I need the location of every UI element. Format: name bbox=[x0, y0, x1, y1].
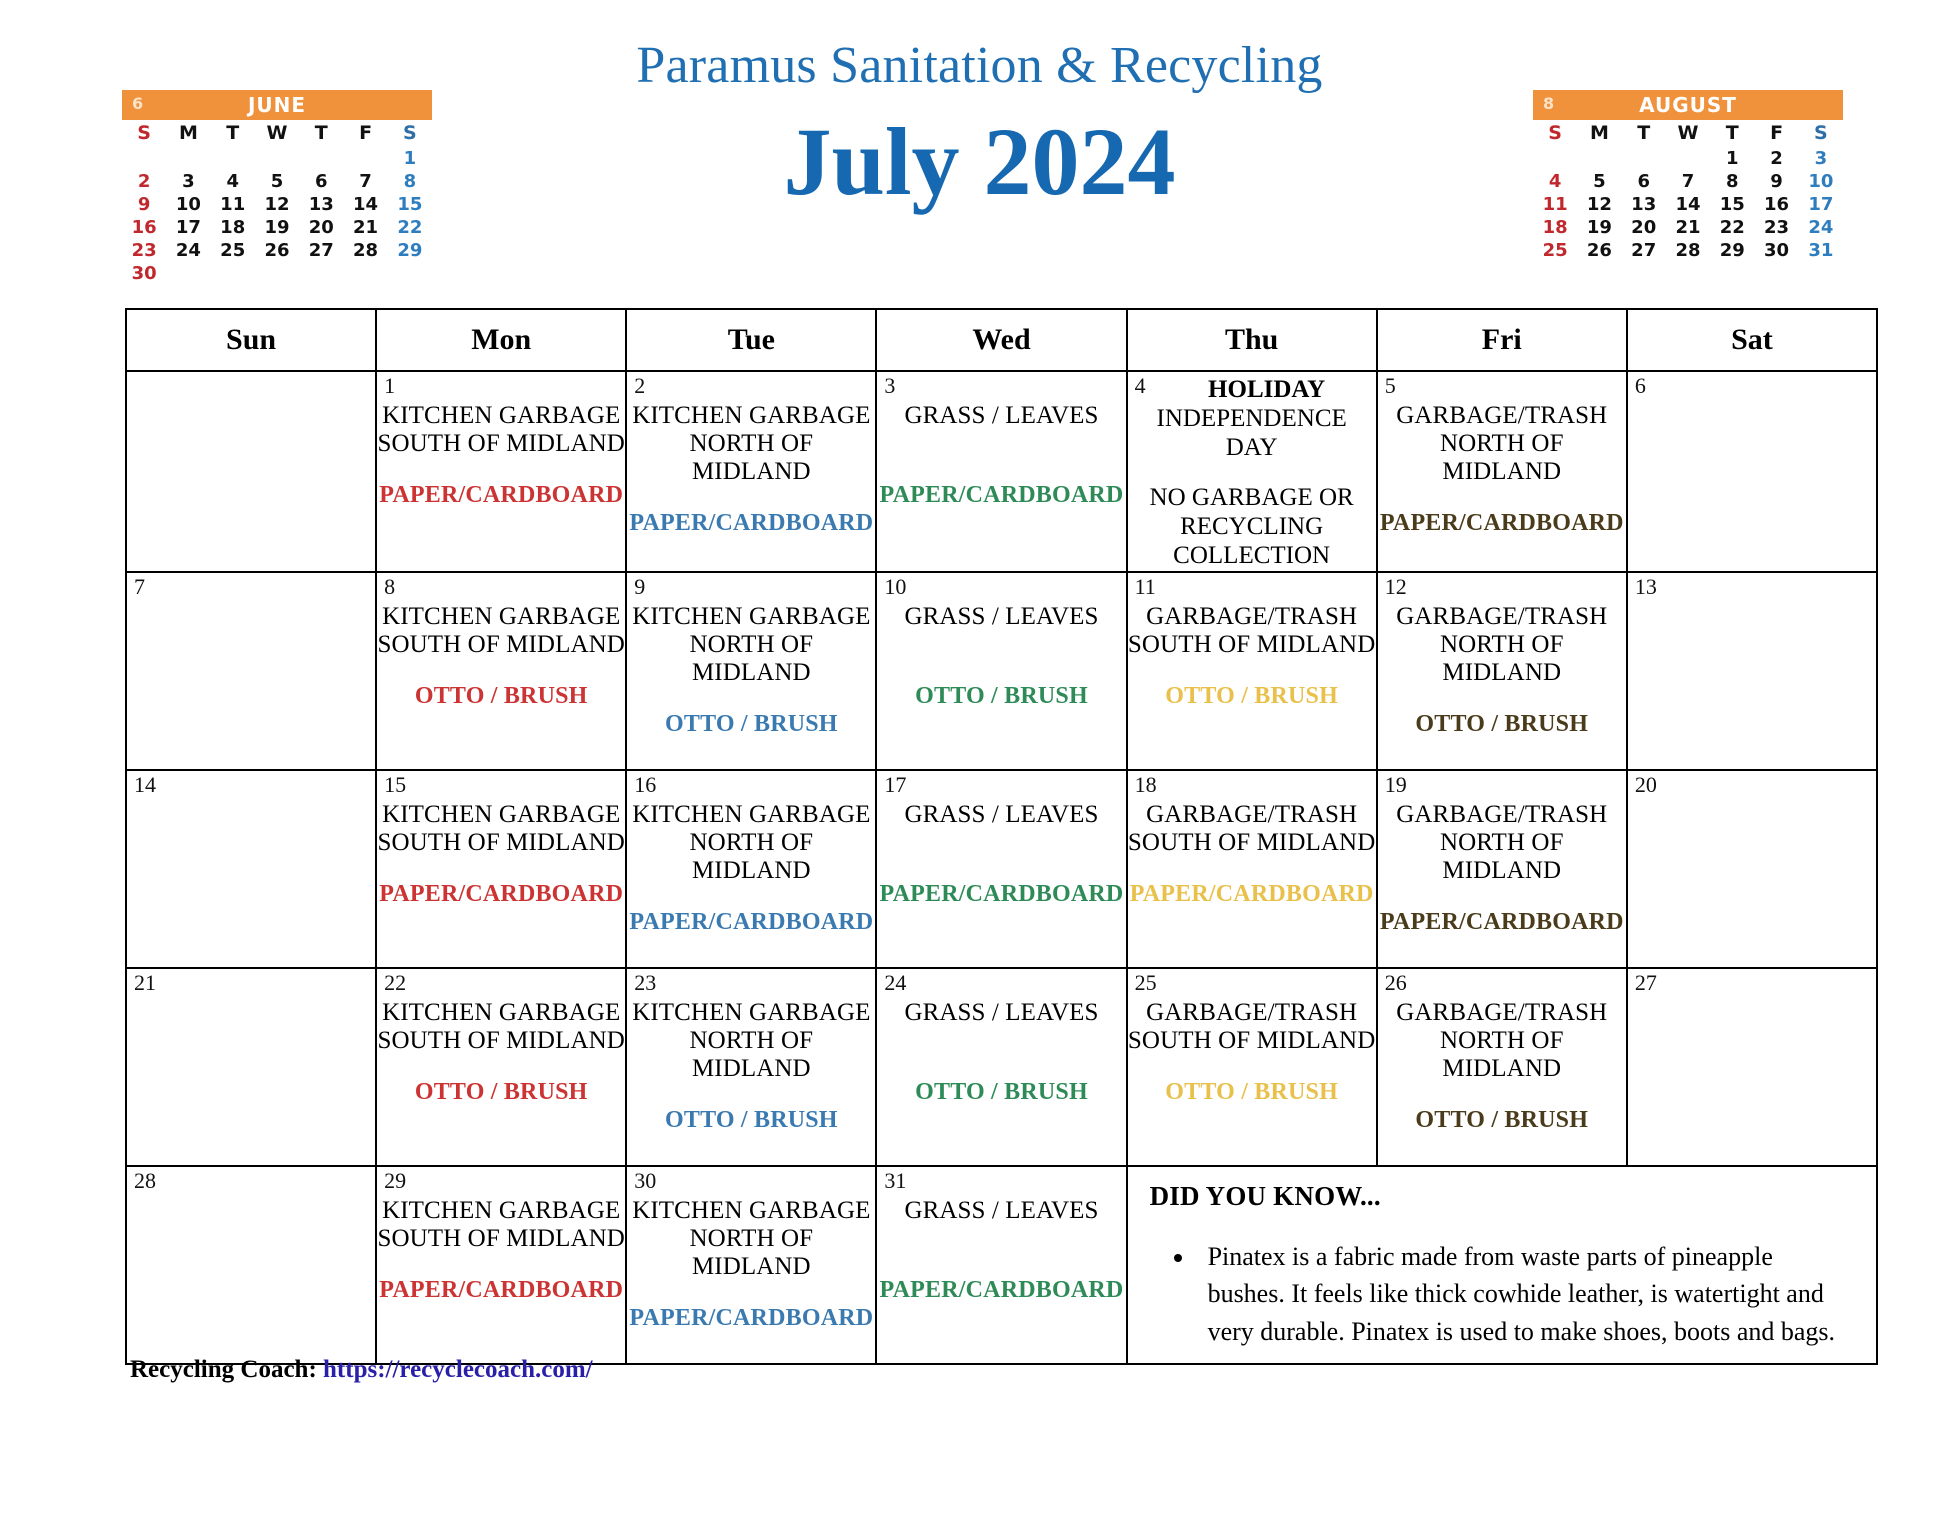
service-line: GARBAGE/TRASH bbox=[1378, 999, 1626, 1027]
mini-calendar-day: 29 bbox=[1710, 239, 1754, 262]
mini-calendar-day: 3 bbox=[1799, 147, 1843, 170]
day-content: KITCHEN GARBAGENORTH OF MIDLANDPAPER/CAR… bbox=[627, 372, 875, 538]
recycling-label: OTTO / BRUSH bbox=[877, 1079, 1125, 1107]
day-number: 10 bbox=[884, 575, 906, 599]
mini-calendar-dow: S bbox=[1799, 120, 1843, 147]
service-line: KITCHEN GARBAGE bbox=[377, 603, 625, 631]
service-line: NORTH OF MIDLAND bbox=[627, 430, 875, 486]
service-line: SOUTH OF MIDLAND bbox=[377, 430, 625, 458]
recycling-label: PAPER/CARDBOARD bbox=[627, 510, 875, 538]
recycling-label: PAPER/CARDBOARD bbox=[627, 909, 875, 937]
mini-calendar-day: 4 bbox=[211, 170, 255, 193]
day-number: 14 bbox=[134, 773, 156, 797]
mini-calendar-day bbox=[122, 147, 166, 170]
calendar-day-cell-13[interactable]: 13 bbox=[1627, 572, 1877, 770]
mini-calendar-month-name: JUNE bbox=[122, 93, 432, 117]
holiday-notice-line: NO GARBAGE OR bbox=[1128, 484, 1376, 513]
mini-calendar-day: 23 bbox=[122, 239, 166, 262]
calendar-day-cell-27[interactable]: 27 bbox=[1627, 968, 1877, 1166]
recycling-label: PAPER/CARDBOARD bbox=[377, 1277, 625, 1305]
service-line: KITCHEN GARBAGE bbox=[377, 999, 625, 1027]
calendar-day-cell-17[interactable]: 17GRASS / LEAVESPAPER/CARDBOARD bbox=[876, 770, 1126, 968]
mini-calendar-day: 4 bbox=[1533, 170, 1577, 193]
mini-calendar-day: 10 bbox=[166, 193, 210, 216]
mini-calendar-day: 18 bbox=[1533, 216, 1577, 239]
mini-calendar-day bbox=[166, 262, 210, 285]
day-number: 1 bbox=[384, 374, 395, 398]
day-number: 21 bbox=[134, 971, 156, 995]
calendar-body: 1KITCHEN GARBAGESOUTH OF MIDLANDPAPER/CA… bbox=[126, 371, 1877, 1364]
service-line: KITCHEN GARBAGE bbox=[627, 1197, 875, 1225]
mini-calendar-dow: T bbox=[299, 120, 343, 147]
day-number: 20 bbox=[1635, 773, 1657, 797]
mini-calendar-day bbox=[1666, 147, 1710, 170]
day-number: 30 bbox=[634, 1169, 656, 1193]
recycling-label: OTTO / BRUSH bbox=[627, 711, 875, 739]
day-number: 7 bbox=[134, 575, 145, 599]
recycling-label: PAPER/CARDBOARD bbox=[377, 482, 625, 510]
mini-calendar-grid: SMTWTFS 12345678910111213141516171819202… bbox=[122, 120, 432, 285]
recycling-label: PAPER/CARDBOARD bbox=[1128, 881, 1376, 909]
service-line: GARBAGE/TRASH bbox=[1128, 999, 1376, 1027]
mini-calendar-header: 8 AUGUST bbox=[1533, 90, 1843, 120]
mini-calendar-day: 26 bbox=[255, 239, 299, 262]
calendar-day-cell-15[interactable]: 15KITCHEN GARBAGESOUTH OF MIDLANDPAPER/C… bbox=[376, 770, 626, 968]
day-content: KITCHEN GARBAGENORTH OF MIDLANDOTTO / BR… bbox=[627, 573, 875, 739]
calendar-day-cell-3[interactable]: 3GRASS / LEAVESPAPER/CARDBOARD bbox=[876, 371, 1126, 572]
day-number: 15 bbox=[384, 773, 406, 797]
calendar-day-cell-21[interactable]: 21 bbox=[126, 968, 376, 1166]
calendar-day-cell-22[interactable]: 22KITCHEN GARBAGESOUTH OF MIDLANDOTTO / … bbox=[376, 968, 626, 1166]
service-line: GARBAGE/TRASH bbox=[1378, 801, 1626, 829]
page-header: Paramus Sanitation & Recycling July 2024… bbox=[0, 0, 1959, 250]
mini-calendar-day: 18 bbox=[211, 216, 255, 239]
day-content: KITCHEN GARBAGESOUTH OF MIDLANDOTTO / BR… bbox=[377, 969, 625, 1107]
footer: Recycling Coach: https://recyclecoach.co… bbox=[130, 1356, 593, 1384]
service-line: GRASS / LEAVES bbox=[877, 999, 1125, 1027]
day-content: GARBAGE/TRASHSOUTH OF MIDLANDPAPER/CARDB… bbox=[1128, 771, 1376, 909]
footer-label: Recycling Coach: bbox=[130, 1356, 317, 1383]
calendar-day-cell-11[interactable]: 11GARBAGE/TRASHSOUTH OF MIDLANDOTTO / BR… bbox=[1127, 572, 1377, 770]
calendar-week-row: 78KITCHEN GARBAGESOUTH OF MIDLANDOTTO / … bbox=[126, 572, 1877, 770]
mini-calendar-day: 21 bbox=[343, 216, 387, 239]
service-line: NORTH OF MIDLAND bbox=[1378, 829, 1626, 885]
day-number: 13 bbox=[1635, 575, 1657, 599]
org-title: Paramus Sanitation & Recycling bbox=[0, 36, 1959, 95]
mini-calendar-day: 19 bbox=[255, 216, 299, 239]
day-content: KITCHEN GARBAGENORTH OF MIDLANDPAPER/CAR… bbox=[627, 771, 875, 937]
service-line: SOUTH OF MIDLAND bbox=[1128, 829, 1376, 857]
calendar-day-cell-24[interactable]: 24GRASS / LEAVESOTTO / BRUSH bbox=[876, 968, 1126, 1166]
calendar-day-cell-2[interactable]: 2KITCHEN GARBAGENORTH OF MIDLANDPAPER/CA… bbox=[626, 371, 876, 572]
day-content: GARBAGE/TRASHNORTH OF MIDLANDPAPER/CARDB… bbox=[1378, 372, 1626, 538]
mini-calendar-dow: F bbox=[1754, 120, 1798, 147]
service-line: GARBAGE/TRASH bbox=[1128, 801, 1376, 829]
day-number: 17 bbox=[884, 773, 906, 797]
day-number: 4 bbox=[1135, 374, 1146, 398]
day-number: 3 bbox=[884, 374, 895, 398]
service-line: GRASS / LEAVES bbox=[877, 801, 1125, 829]
mini-calendar-day: 22 bbox=[388, 216, 432, 239]
service-line: SOUTH OF MIDLAND bbox=[377, 1027, 625, 1055]
mini-calendar-day: 21 bbox=[1666, 216, 1710, 239]
mini-calendar-previous-month: 6 JUNE SMTWTFS 1234567891011121314151617… bbox=[122, 90, 432, 285]
mini-calendar-dow: T bbox=[1710, 120, 1754, 147]
day-content: KITCHEN GARBAGESOUTH OF MIDLANDPAPER/CAR… bbox=[377, 372, 625, 510]
day-number: 2 bbox=[634, 374, 645, 398]
mini-calendar-day: 7 bbox=[343, 170, 387, 193]
calendar-day-cell-19[interactable]: 19GARBAGE/TRASHNORTH OF MIDLANDPAPER/CAR… bbox=[1377, 770, 1627, 968]
mini-calendar-day: 20 bbox=[299, 216, 343, 239]
recycling-label: OTTO / BRUSH bbox=[627, 1107, 875, 1135]
mini-calendar-dow: T bbox=[1622, 120, 1666, 147]
service-line: SOUTH OF MIDLAND bbox=[377, 631, 625, 659]
mini-calendar-dow: M bbox=[166, 120, 210, 147]
calendar-day-cell-9[interactable]: 9KITCHEN GARBAGENORTH OF MIDLANDOTTO / B… bbox=[626, 572, 876, 770]
day-content: GRASS / LEAVESPAPER/CARDBOARD bbox=[877, 771, 1125, 909]
recycling-label: PAPER/CARDBOARD bbox=[1378, 909, 1626, 937]
service-line: GARBAGE/TRASH bbox=[1378, 603, 1626, 631]
mini-calendar-day: 16 bbox=[1754, 193, 1798, 216]
day-content: KITCHEN GARBAGESOUTH OF MIDLANDOTTO / BR… bbox=[377, 573, 625, 711]
service-line: NORTH OF MIDLAND bbox=[627, 1027, 875, 1083]
mini-calendar-day bbox=[1577, 147, 1621, 170]
mini-calendar-day bbox=[255, 262, 299, 285]
calendar-day-header-sat: Sat bbox=[1627, 309, 1877, 371]
service-line: KITCHEN GARBAGE bbox=[377, 402, 625, 430]
mini-calendar-next-month: 8 AUGUST SMTWTFS 12345678910111213141516… bbox=[1533, 90, 1843, 262]
day-number: 27 bbox=[1635, 971, 1657, 995]
spacer bbox=[1128, 462, 1376, 484]
day-number: 28 bbox=[134, 1169, 156, 1193]
day-number: 29 bbox=[384, 1169, 406, 1193]
recycling-label: OTTO / BRUSH bbox=[1128, 683, 1376, 711]
service-line: KITCHEN GARBAGE bbox=[627, 999, 875, 1027]
day-number: 19 bbox=[1385, 773, 1407, 797]
mini-calendar-day: 22 bbox=[1710, 216, 1754, 239]
service-line: SOUTH OF MIDLAND bbox=[377, 1225, 625, 1253]
mini-calendar-day bbox=[166, 147, 210, 170]
mini-calendar-dow: S bbox=[388, 120, 432, 147]
mini-calendar-day: 24 bbox=[166, 239, 210, 262]
calendar-day-header-sun: Sun bbox=[126, 309, 376, 371]
mini-calendar-day: 9 bbox=[122, 193, 166, 216]
service-line: SOUTH OF MIDLAND bbox=[377, 829, 625, 857]
day-content: GRASS / LEAVESPAPER/CARDBOARD bbox=[877, 1167, 1125, 1305]
mini-calendar-day bbox=[343, 262, 387, 285]
service-line: KITCHEN GARBAGE bbox=[627, 603, 875, 631]
day-content: GARBAGE/TRASHSOUTH OF MIDLANDOTTO / BRUS… bbox=[1128, 573, 1376, 711]
calendar-day-header-wed: Wed bbox=[876, 309, 1126, 371]
mini-calendar-day bbox=[343, 147, 387, 170]
recycling-label: PAPER/CARDBOARD bbox=[377, 881, 625, 909]
mini-calendar-day: 26 bbox=[1577, 239, 1621, 262]
mini-calendar-day: 29 bbox=[388, 239, 432, 262]
day-number: 18 bbox=[1135, 773, 1157, 797]
day-number: 8 bbox=[384, 575, 395, 599]
service-line: GRASS / LEAVES bbox=[877, 402, 1125, 430]
calendar-week-row: 2122KITCHEN GARBAGESOUTH OF MIDLANDOTTO … bbox=[126, 968, 1877, 1166]
mini-calendar-day: 1 bbox=[1710, 147, 1754, 170]
recycling-label: PAPER/CARDBOARD bbox=[877, 881, 1125, 909]
calendar-day-cell-1[interactable]: 1KITCHEN GARBAGESOUTH OF MIDLANDPAPER/CA… bbox=[376, 371, 626, 572]
mini-calendar-day: 13 bbox=[299, 193, 343, 216]
service-line: KITCHEN GARBAGE bbox=[627, 402, 875, 430]
day-number: 16 bbox=[634, 773, 656, 797]
mini-calendar-day: 5 bbox=[1577, 170, 1621, 193]
day-number: 9 bbox=[634, 575, 645, 599]
day-number: 26 bbox=[1385, 971, 1407, 995]
mini-calendar-day bbox=[1622, 147, 1666, 170]
day-content: KITCHEN GARBAGENORTH OF MIDLANDPAPER/CAR… bbox=[627, 1167, 875, 1333]
day-content: KITCHEN GARBAGESOUTH OF MIDLANDPAPER/CAR… bbox=[377, 771, 625, 909]
did-you-know-title: DID YOU KNOW... bbox=[1150, 1181, 1854, 1212]
service-line: NORTH OF MIDLAND bbox=[627, 829, 875, 885]
day-content: GARBAGE/TRASHNORTH OF MIDLANDPAPER/CARDB… bbox=[1378, 771, 1626, 937]
mini-calendar-day: 15 bbox=[388, 193, 432, 216]
day-number: 23 bbox=[634, 971, 656, 995]
recycling-label: OTTO / BRUSH bbox=[377, 1079, 625, 1107]
mini-calendar-day: 12 bbox=[1577, 193, 1621, 216]
calendar-day-cell-20[interactable]: 20 bbox=[1627, 770, 1877, 968]
mini-calendar-day: 1 bbox=[388, 147, 432, 170]
calendar-day-cell-6[interactable]: 6 bbox=[1627, 371, 1877, 572]
day-number: 6 bbox=[1635, 374, 1646, 398]
service-line: NORTH OF MIDLAND bbox=[1378, 631, 1626, 687]
calendar-week-row: 1415KITCHEN GARBAGESOUTH OF MIDLANDPAPER… bbox=[126, 770, 1877, 968]
mini-calendar-day bbox=[255, 147, 299, 170]
service-line: NORTH OF MIDLAND bbox=[627, 631, 875, 687]
day-content: GARBAGE/TRASHSOUTH OF MIDLANDOTTO / BRUS… bbox=[1128, 969, 1376, 1107]
calendar-header-row: SunMonTueWedThuFriSat bbox=[126, 309, 1877, 371]
mini-calendar-day bbox=[211, 147, 255, 170]
calendar-day-cell-30[interactable]: 30KITCHEN GARBAGENORTH OF MIDLANDPAPER/C… bbox=[626, 1166, 876, 1364]
day-number: 11 bbox=[1135, 575, 1156, 599]
calendar-day-cell-18[interactable]: 18GARBAGE/TRASHSOUTH OF MIDLANDPAPER/CAR… bbox=[1127, 770, 1377, 968]
calendar-day-header-thu: Thu bbox=[1127, 309, 1377, 371]
holiday-name: INDEPENDENCE DAY bbox=[1128, 405, 1376, 463]
mini-calendar-day bbox=[299, 147, 343, 170]
day-content: KITCHEN GARBAGESOUTH OF MIDLANDPAPER/CAR… bbox=[377, 1167, 625, 1305]
mini-calendar-day: 15 bbox=[1710, 193, 1754, 216]
mini-calendar-header: 6 JUNE bbox=[122, 90, 432, 120]
calendar-day-cell-25[interactable]: 25GARBAGE/TRASHSOUTH OF MIDLANDOTTO / BR… bbox=[1127, 968, 1377, 1166]
mini-calendar-day: 11 bbox=[1533, 193, 1577, 216]
mini-calendar-day: 19 bbox=[1577, 216, 1621, 239]
calendar-container: SunMonTueWedThuFriSat 1KITCHEN GARBAGESO… bbox=[125, 308, 1878, 1365]
calendar-day-header-mon: Mon bbox=[376, 309, 626, 371]
mini-calendar-day bbox=[299, 262, 343, 285]
calendar-day-cell-26[interactable]: 26GARBAGE/TRASHNORTH OF MIDLANDOTTO / BR… bbox=[1377, 968, 1627, 1166]
mini-calendar-dow: M bbox=[1577, 120, 1621, 147]
recycling-label: OTTO / BRUSH bbox=[1378, 711, 1626, 739]
day-content: GRASS / LEAVESOTTO / BRUSH bbox=[877, 969, 1125, 1107]
calendar-week-row: 2829KITCHEN GARBAGESOUTH OF MIDLANDPAPER… bbox=[126, 1166, 1877, 1364]
day-number: 5 bbox=[1385, 374, 1396, 398]
mini-calendar-day: 8 bbox=[1710, 170, 1754, 193]
did-you-know-cell[interactable]: DID YOU KNOW...Pinatex is a fabric made … bbox=[1127, 1166, 1877, 1364]
holiday-notice-line: RECYCLING bbox=[1128, 513, 1376, 542]
mini-calendar-day: 6 bbox=[299, 170, 343, 193]
mini-calendar-dow: F bbox=[343, 120, 387, 147]
mini-calendar-day: 17 bbox=[166, 216, 210, 239]
mini-calendar-day: 24 bbox=[1799, 216, 1843, 239]
recycling-label: OTTO / BRUSH bbox=[877, 683, 1125, 711]
holiday-title: HOLIDAY bbox=[1128, 376, 1376, 405]
recycling-label: PAPER/CARDBOARD bbox=[627, 1305, 875, 1333]
mini-calendar-day: 12 bbox=[255, 193, 299, 216]
calendar-week-row: 1KITCHEN GARBAGESOUTH OF MIDLANDPAPER/CA… bbox=[126, 371, 1877, 572]
day-number: 25 bbox=[1135, 971, 1157, 995]
day-number: 22 bbox=[384, 971, 406, 995]
mini-calendar-day: 23 bbox=[1754, 216, 1798, 239]
mini-calendar-day: 17 bbox=[1799, 193, 1843, 216]
did-you-know-list: Pinatex is a fabric made from waste part… bbox=[1150, 1238, 1854, 1351]
day-content: GRASS / LEAVESPAPER/CARDBOARD bbox=[877, 372, 1125, 510]
calendar-day-cell-12[interactable]: 12GARBAGE/TRASHNORTH OF MIDLANDOTTO / BR… bbox=[1377, 572, 1627, 770]
mini-calendar-day: 28 bbox=[1666, 239, 1710, 262]
calendar-day-cell-31[interactable]: 31GRASS / LEAVESPAPER/CARDBOARD bbox=[876, 1166, 1126, 1364]
recycling-label: OTTO / BRUSH bbox=[1128, 1079, 1376, 1107]
calendar-day-cell-10[interactable]: 10GRASS / LEAVESOTTO / BRUSH bbox=[876, 572, 1126, 770]
mini-calendar-dow: T bbox=[211, 120, 255, 147]
mini-calendar-day: 11 bbox=[211, 193, 255, 216]
mini-calendar-day: 27 bbox=[299, 239, 343, 262]
mini-calendar-day: 9 bbox=[1754, 170, 1798, 193]
mini-calendar-day: 6 bbox=[1622, 170, 1666, 193]
calendar-day-header-fri: Fri bbox=[1377, 309, 1627, 371]
calendar-day-cell-16[interactable]: 16KITCHEN GARBAGENORTH OF MIDLANDPAPER/C… bbox=[626, 770, 876, 968]
service-line: NORTH OF MIDLAND bbox=[1378, 430, 1626, 486]
mini-calendar-dow: S bbox=[122, 120, 166, 147]
recycling-label: PAPER/CARDBOARD bbox=[877, 1277, 1125, 1305]
holiday-content: HOLIDAYINDEPENDENCE DAYNO GARBAGE ORRECY… bbox=[1128, 372, 1376, 571]
mini-calendar-month-name: AUGUST bbox=[1533, 93, 1843, 117]
recycling-label: OTTO / BRUSH bbox=[377, 683, 625, 711]
calendar-day-cell-28[interactable]: 28 bbox=[126, 1166, 376, 1364]
list-item: Pinatex is a fabric made from waste part… bbox=[1196, 1238, 1854, 1351]
day-number: 12 bbox=[1385, 575, 1407, 599]
calendar-day-cell-23[interactable]: 23KITCHEN GARBAGENORTH OF MIDLANDOTTO / … bbox=[626, 968, 876, 1166]
calendar-day-header-tue: Tue bbox=[626, 309, 876, 371]
mini-calendar-day: 27 bbox=[1622, 239, 1666, 262]
day-content: GRASS / LEAVESOTTO / BRUSH bbox=[877, 573, 1125, 711]
mini-calendar-day bbox=[388, 262, 432, 285]
recycling-label: PAPER/CARDBOARD bbox=[1378, 510, 1626, 538]
mini-calendar-day: 14 bbox=[343, 193, 387, 216]
day-number: 24 bbox=[884, 971, 906, 995]
mini-calendar-day: 30 bbox=[122, 262, 166, 285]
calendar-day-cell-5[interactable]: 5GARBAGE/TRASHNORTH OF MIDLANDPAPER/CARD… bbox=[1377, 371, 1627, 572]
mini-calendar-day: 30 bbox=[1754, 239, 1798, 262]
day-content: GARBAGE/TRASHNORTH OF MIDLANDOTTO / BRUS… bbox=[1378, 573, 1626, 739]
mini-calendar-dow: W bbox=[255, 120, 299, 147]
service-line: KITCHEN GARBAGE bbox=[377, 1197, 625, 1225]
calendar-day-cell-7[interactable]: 7 bbox=[126, 572, 376, 770]
service-line: KITCHEN GARBAGE bbox=[627, 801, 875, 829]
mini-calendar-day: 10 bbox=[1799, 170, 1843, 193]
calendar-day-cell-empty[interactable] bbox=[126, 371, 376, 572]
calendar-day-cell-29[interactable]: 29KITCHEN GARBAGESOUTH OF MIDLANDPAPER/C… bbox=[376, 1166, 626, 1364]
service-line: KITCHEN GARBAGE bbox=[377, 801, 625, 829]
service-line: GRASS / LEAVES bbox=[877, 603, 1125, 631]
mini-calendar-day: 20 bbox=[1622, 216, 1666, 239]
mini-calendar-day: 7 bbox=[1666, 170, 1710, 193]
mini-calendar-day: 31 bbox=[1799, 239, 1843, 262]
holiday-notice-line: COLLECTION bbox=[1128, 542, 1376, 571]
mini-calendar-day: 8 bbox=[388, 170, 432, 193]
day-content: KITCHEN GARBAGENORTH OF MIDLANDOTTO / BR… bbox=[627, 969, 875, 1135]
mini-calendar-day: 5 bbox=[255, 170, 299, 193]
mini-calendar-day: 28 bbox=[343, 239, 387, 262]
mini-calendar-day bbox=[1533, 147, 1577, 170]
recycling-label: PAPER/CARDBOARD bbox=[877, 482, 1125, 510]
mini-calendar-dow: W bbox=[1666, 120, 1710, 147]
service-line: GARBAGE/TRASH bbox=[1378, 402, 1626, 430]
mini-calendar-day: 2 bbox=[122, 170, 166, 193]
calendar-day-cell-14[interactable]: 14 bbox=[126, 770, 376, 968]
recycling-label: OTTO / BRUSH bbox=[1378, 1107, 1626, 1135]
service-line: GRASS / LEAVES bbox=[877, 1197, 1125, 1225]
mini-calendar-day: 25 bbox=[211, 239, 255, 262]
mini-calendar-dow: S bbox=[1533, 120, 1577, 147]
calendar-table: SunMonTueWedThuFriSat 1KITCHEN GARBAGESO… bbox=[125, 308, 1878, 1365]
day-content: GARBAGE/TRASHNORTH OF MIDLANDOTTO / BRUS… bbox=[1378, 969, 1626, 1135]
mini-calendar-grid: SMTWTFS 12345678910111213141516171819202… bbox=[1533, 120, 1843, 262]
day-number: 31 bbox=[884, 1169, 906, 1193]
mini-calendar-day: 25 bbox=[1533, 239, 1577, 262]
mini-calendar-day bbox=[211, 262, 255, 285]
mini-calendar-day: 16 bbox=[122, 216, 166, 239]
service-line: NORTH OF MIDLAND bbox=[627, 1225, 875, 1281]
did-you-know-content: DID YOU KNOW...Pinatex is a fabric made … bbox=[1128, 1167, 1876, 1351]
service-line: NORTH OF MIDLAND bbox=[1378, 1027, 1626, 1083]
service-line: GARBAGE/TRASH bbox=[1128, 603, 1376, 631]
mini-calendar-day: 14 bbox=[1666, 193, 1710, 216]
mini-calendar-day: 2 bbox=[1754, 147, 1798, 170]
mini-calendar-day: 3 bbox=[166, 170, 210, 193]
service-line: SOUTH OF MIDLAND bbox=[1128, 1027, 1376, 1055]
recycle-coach-link[interactable]: https://recyclecoach.com/ bbox=[323, 1356, 593, 1383]
calendar-day-cell-8[interactable]: 8KITCHEN GARBAGESOUTH OF MIDLANDOTTO / B… bbox=[376, 572, 626, 770]
calendar-holiday-cell-4[interactable]: 4HOLIDAYINDEPENDENCE DAYNO GARBAGE ORREC… bbox=[1127, 371, 1377, 572]
service-line: SOUTH OF MIDLAND bbox=[1128, 631, 1376, 659]
mini-calendar-day: 13 bbox=[1622, 193, 1666, 216]
